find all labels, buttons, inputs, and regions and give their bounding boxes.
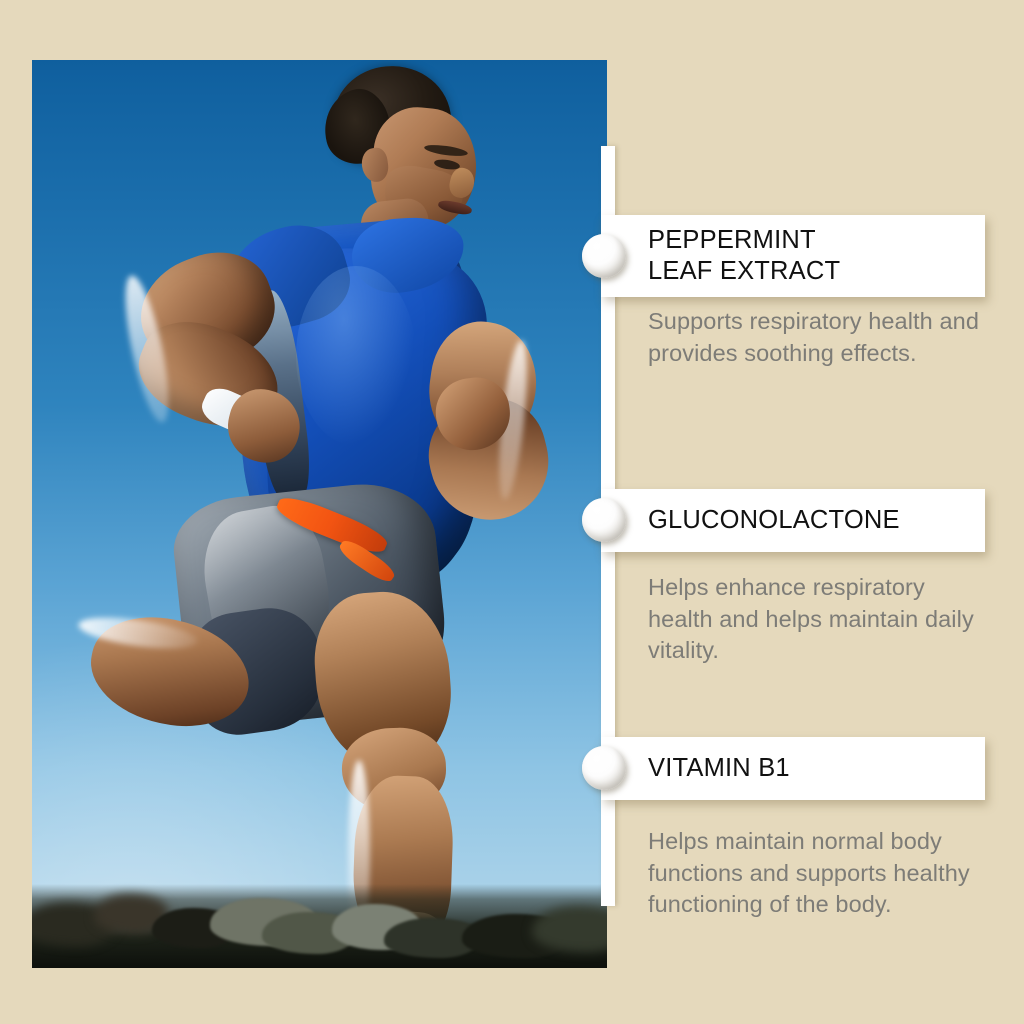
runner-figure — [32, 60, 607, 968]
ingredient-title: PEPPERMINT LEAF EXTRACT — [648, 225, 840, 287]
rocky-ground — [32, 884, 607, 968]
ingredient-card-vitamin-b1[interactable]: VITAMIN B1 — [601, 737, 985, 800]
ingredient-title: VITAMIN B1 — [648, 753, 790, 784]
ingredient-description-vitamin-b1: Helps maintain normal body functions and… — [648, 826, 992, 921]
ingredient-description-gluconolactone: Helps enhance respiratory health and hel… — [648, 572, 984, 667]
ingredient-description-peppermint-leaf-extract: Supports respiratory health and provides… — [648, 306, 988, 369]
infographic-canvas: PEPPERMINT LEAF EXTRACT Supports respira… — [0, 0, 1024, 1024]
ingredient-card-peppermint-leaf-extract[interactable]: PEPPERMINT LEAF EXTRACT — [601, 215, 985, 297]
bullet-marker-2 — [582, 498, 626, 542]
runner-photo — [32, 60, 607, 968]
ingredient-title: GLUCONOLACTONE — [648, 505, 900, 536]
shirt-highlight — [296, 266, 416, 446]
bullet-marker-3 — [582, 746, 626, 790]
ingredient-card-gluconolactone[interactable]: GLUCONOLACTONE — [601, 489, 985, 552]
bullet-marker-1 — [582, 234, 626, 278]
